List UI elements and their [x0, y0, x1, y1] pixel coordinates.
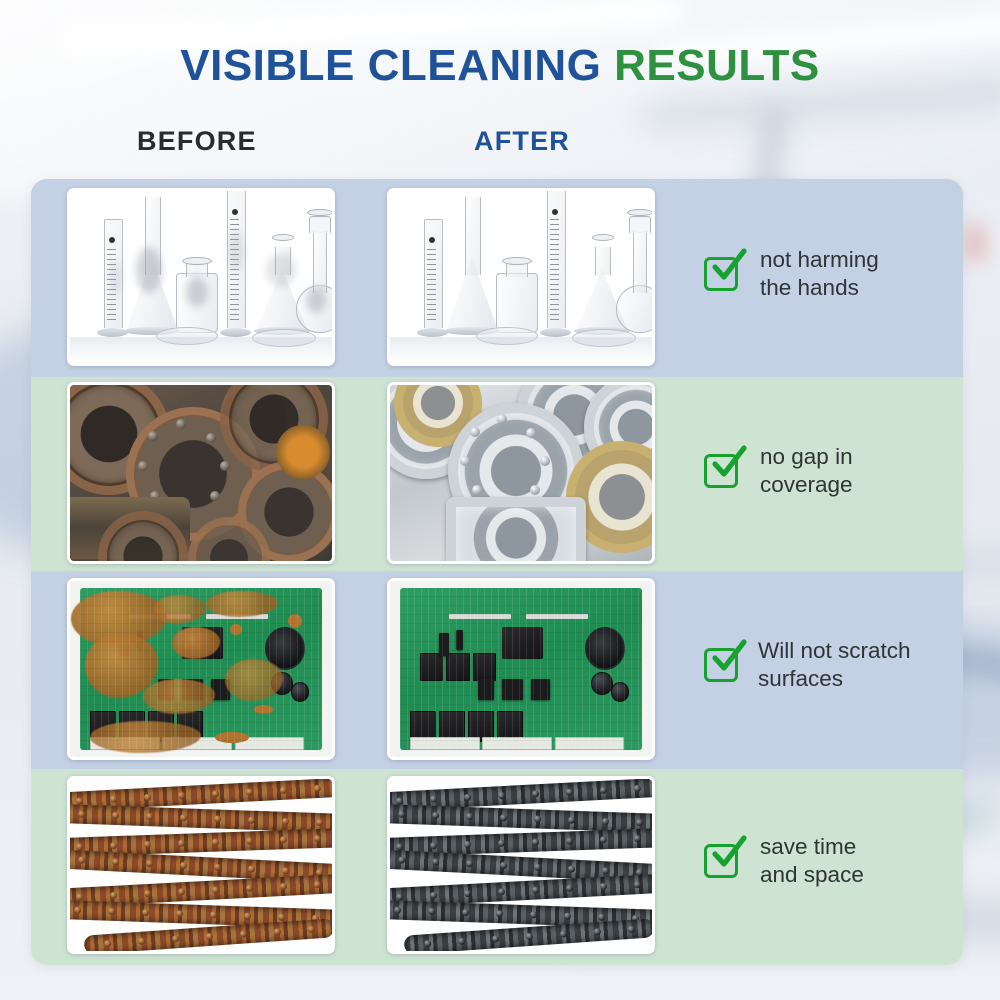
after-image-chain[interactable]	[387, 776, 655, 954]
feature-item-3: Will not scratch surfaces	[704, 637, 911, 694]
column-header-before: BEFORE	[137, 128, 257, 155]
feature-label: no gap in coverage	[760, 443, 853, 500]
before-image-circuit-board[interactable]	[67, 578, 335, 760]
background-red-object-2	[966, 224, 984, 262]
checkbox-check-icon	[704, 257, 738, 291]
feature-item-4: save time and space	[704, 833, 864, 890]
page-title-primary: VISIBLE CLEANING	[180, 41, 601, 90]
checkbox-check-icon	[704, 454, 738, 488]
after-image-circuit-board[interactable]	[387, 578, 655, 760]
before-image-glassware[interactable]	[67, 188, 335, 366]
column-header-after: AFTER	[474, 128, 570, 155]
checkbox-check-icon	[704, 648, 738, 682]
before-image-chain[interactable]	[67, 776, 335, 954]
feature-label: not harming the hands	[760, 246, 879, 303]
feature-item-2: no gap in coverage	[704, 443, 853, 500]
feature-label: Will not scratch surfaces	[758, 637, 911, 694]
after-image-glassware[interactable]	[387, 188, 655, 366]
page-title-accent: RESULTS	[614, 41, 820, 90]
after-image-bearings[interactable]	[387, 382, 655, 564]
feature-label: save time and space	[760, 833, 864, 890]
feature-item-1: not harming the hands	[704, 246, 879, 303]
page-title: VISIBLE CLEANING RESULTS	[0, 44, 1000, 88]
checkbox-check-icon	[704, 844, 738, 878]
before-image-bearings[interactable]	[67, 382, 335, 564]
